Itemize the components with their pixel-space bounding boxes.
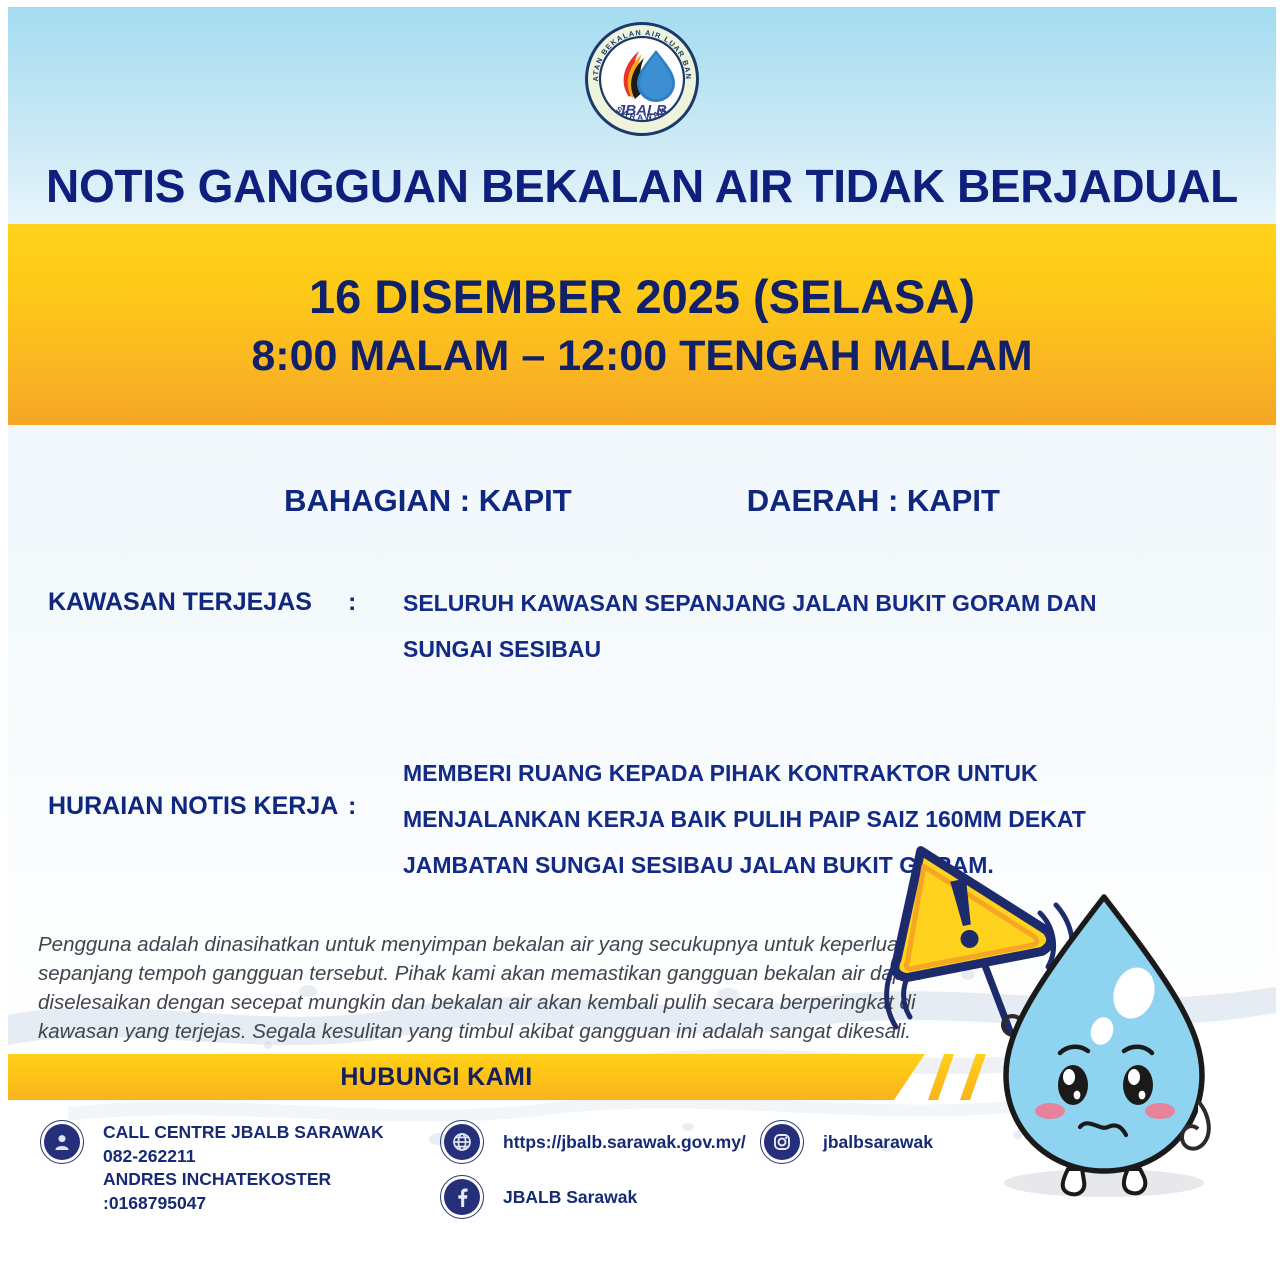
field-colon-kawasan: :: [348, 580, 403, 617]
globe-icon: [440, 1120, 484, 1164]
contact-instagram[interactable]: jbalbsarawak: [760, 1120, 933, 1164]
kawasan-line-1: SELURUH KAWASAN SEPANJANG JALAN BUKIT GO…: [403, 580, 1168, 626]
contact-call-centre[interactable]: CALL CENTRE JBALB SARAWAK 082-262211 AND…: [40, 1120, 384, 1215]
advisory-line-4: kawasan yang terjejas. Segala kesulitan …: [38, 1017, 918, 1046]
facebook-icon: [440, 1175, 484, 1219]
website-text: https://jbalb.sarawak.gov.my/: [503, 1120, 746, 1155]
division-row: BAHAGIAN : KAPIT DAERAH : KAPIT: [8, 483, 1276, 519]
water-disruption-notice-poster: JBALB JABATAN BEKALAN AIR LUAR BANDAR SA…: [0, 0, 1284, 1283]
field-kawasan-terjejas: KAWASAN TERJEJAS : SELURUH KAWASAN SEPAN…: [48, 580, 1168, 672]
daerah-label: DAERAH : KAPIT: [747, 483, 1000, 519]
advisory-line-1: Pengguna adalah dinasihatkan untuk menyi…: [38, 930, 918, 959]
contact-banner: HUBUNGI KAMI: [8, 1054, 925, 1100]
poster-canvas: JBALB JABATAN BEKALAN AIR LUAR BANDAR SA…: [8, 7, 1276, 1277]
instagram-icon: [760, 1120, 804, 1164]
field-value-kawasan: SELURUH KAWASAN SEPANJANG JALAN BUKIT GO…: [403, 580, 1168, 672]
instagram-text: jbalbsarawak: [823, 1120, 933, 1155]
contact-person-name: ANDRES INCHATEKOSTER: [103, 1168, 384, 1192]
facebook-handle: JBALB Sarawak: [503, 1186, 637, 1210]
jbalb-sarawak-logo: JBALB JABATAN BEKALAN AIR LUAR BANDAR SA…: [582, 19, 702, 139]
bahagian-label: BAHAGIAN : KAPIT: [284, 483, 572, 519]
huraian-line-2: MENJALANKAN KERJA BAIK PULIH PAIP SAIZ 1…: [403, 796, 1168, 842]
contact-facebook[interactable]: JBALB Sarawak: [440, 1175, 637, 1219]
field-huraian-notis-kerja: HURAIAN NOTIS KERJA : MEMBERI RUANG KEPA…: [48, 750, 1168, 888]
huraian-line-3: JAMBATAN SUNGAI SESIBAU JALAN BUKIT GORA…: [403, 842, 1168, 888]
call-centre-name: CALL CENTRE JBALB SARAWAK: [103, 1121, 384, 1145]
field-colon-huraian: :: [348, 750, 403, 821]
huraian-line-1: MEMBERI RUANG KEPADA PIHAK KONTRAKTOR UN…: [403, 750, 1168, 796]
instagram-handle: jbalbsarawak: [823, 1131, 933, 1155]
person-icon: [40, 1120, 84, 1164]
header-band: JBALB JABATAN BEKALAN AIR LUAR BANDAR SA…: [8, 7, 1276, 224]
field-value-huraian: MEMBERI RUANG KEPADA PIHAK KONTRAKTOR UN…: [403, 750, 1168, 888]
page-title: NOTIS GANGGUAN BEKALAN AIR TIDAK BERJADU…: [8, 159, 1276, 213]
contact-person-phone: :0168795047: [103, 1192, 384, 1216]
notice-time-range: 8:00 MALAM – 12:00 TENGAH MALAM: [251, 332, 1032, 381]
kawasan-line-2: SUNGAI SESIBAU: [403, 626, 1168, 672]
call-centre-phone: 082-262211: [103, 1145, 384, 1169]
contact-banner-label: HUBUNGI KAMI: [340, 1063, 532, 1092]
contact-website[interactable]: https://jbalb.sarawak.gov.my/: [440, 1120, 746, 1164]
date-time-band: 16 DISEMBER 2025 (SELASA) 8:00 MALAM – 1…: [8, 224, 1276, 425]
call-centre-text: CALL CENTRE JBALB SARAWAK 082-262211 AND…: [103, 1120, 384, 1215]
field-label-kawasan: KAWASAN TERJEJAS: [48, 580, 348, 617]
facebook-text: JBALB Sarawak: [503, 1175, 637, 1210]
field-label-huraian: HURAIAN NOTIS KERJA: [48, 750, 348, 821]
advisory-line-2: sepanjang tempoh gangguan tersebut. Piha…: [38, 959, 918, 988]
advisory-paragraph: Pengguna adalah dinasihatkan untuk menyi…: [38, 930, 918, 1046]
advisory-line-3: diselesaikan dengan secepat mungkin dan …: [38, 988, 918, 1017]
notice-date: 16 DISEMBER 2025 (SELASA): [309, 269, 975, 324]
website-url: https://jbalb.sarawak.gov.my/: [503, 1131, 746, 1155]
